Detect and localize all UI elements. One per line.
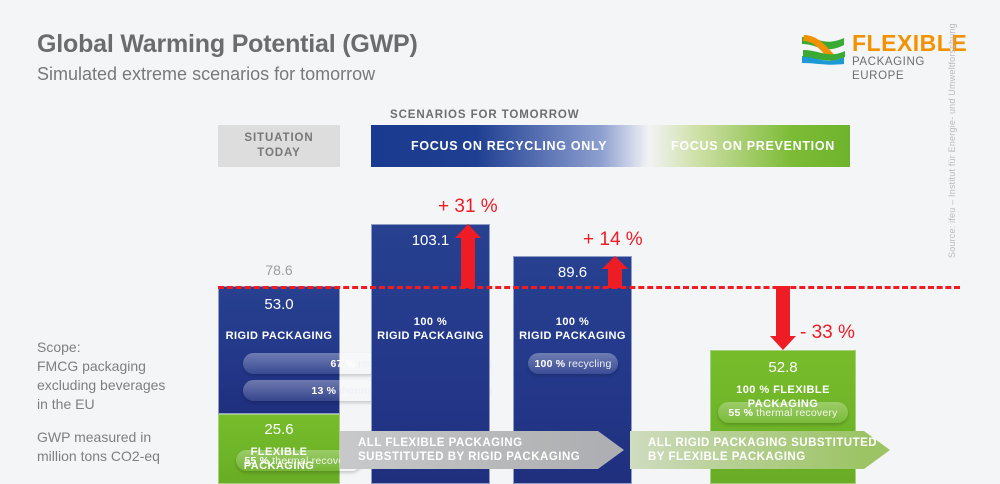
pill-100-recycling: 100 % recycling [528, 353, 618, 374]
bar-1-rigid-label: RIGID PACKAGING [219, 329, 339, 343]
bar-3-label-line2: RIGID PACKAGING [514, 329, 631, 343]
pill-55-thermal-flex-text: thermal recovery [756, 407, 837, 419]
bar-2-label-line1: 100 % [372, 315, 489, 329]
pill-55-thermal-today-pct: 55 % [244, 455, 269, 467]
banner-green-line1: ALL RIGID PACKAGING SUBSTITUTED [648, 436, 877, 451]
banner-rigid-substituted-by-flexible: ALL RIGID PACKAGING SUBSTITUTED BY FLEXI… [630, 431, 890, 469]
pill-100-recycling-pct: 100 % [534, 358, 565, 370]
pill-55-thermal-recovery-flexible: 55 % thermal recovery [718, 402, 848, 423]
bar-2-label-line2: RIGID PACKAGING [372, 329, 489, 343]
pill-67-recycling-pct: 67 % [331, 358, 356, 370]
bar-3-label-line1: 100 % [514, 315, 631, 329]
banner-gray-line2: SUBSTITUTED BY RIGID PACKAGING [358, 450, 580, 465]
scope-line-1: Scope: [37, 338, 165, 357]
delta-label-bar-4: - 33 % [800, 322, 855, 344]
delta-label-bar-3: + 14 % [583, 229, 643, 251]
bar-1-total-label: 78.6 [218, 262, 340, 278]
pill-13-thermal-pct: 13 % [311, 385, 336, 397]
delta-arrow-up-bar-3 [602, 256, 628, 288]
source-credit: Source: ifeu – Institut für Energie- und… [947, 23, 957, 258]
reference-line-extension [850, 286, 960, 289]
bar-4-label-line1: 100 % FLEXIBLE [711, 383, 855, 397]
delta-arrow-up-bar-2 [455, 224, 481, 288]
bar-4-value: 52.8 [711, 359, 855, 376]
delta-label-bar-2: + 31 % [438, 196, 498, 218]
scope-line-4: in the EU [37, 395, 165, 414]
bar-1-flexible-value: 25.6 [219, 421, 339, 438]
bar-1-rigid-value: 53.0 [219, 296, 339, 313]
pill-55-thermal-flex-pct: 55 % [728, 407, 753, 419]
banner-gray-line1: ALL FLEXIBLE PACKAGING [358, 436, 580, 451]
banner-green-line2: BY FLEXIBLE PACKAGING [648, 450, 877, 465]
bar-1-flexible-segment: 25.6 FLEXIBLE PACKAGING [218, 414, 340, 484]
scope-line-3: excluding beverages [37, 376, 165, 395]
banner-flexible-substituted-by-rigid: ALL FLEXIBLE PACKAGING SUBSTITUTED BY RI… [340, 431, 624, 469]
scope-note: Scope: FMCG packaging excluding beverage… [37, 338, 165, 466]
pill-100-recycling-text: recycling [568, 358, 611, 370]
scope-line-6: million tons CO2-eq [37, 447, 165, 466]
scope-line-2: FMCG packaging [37, 357, 165, 376]
infographic-canvas: Global Warming Potential (GWP) Simulated… [0, 0, 1000, 484]
reference-line-78-6 [218, 286, 850, 289]
scope-spacer [37, 414, 165, 428]
scope-line-5: GWP measured in [37, 428, 165, 447]
delta-arrow-down-bar-4 [770, 286, 796, 350]
